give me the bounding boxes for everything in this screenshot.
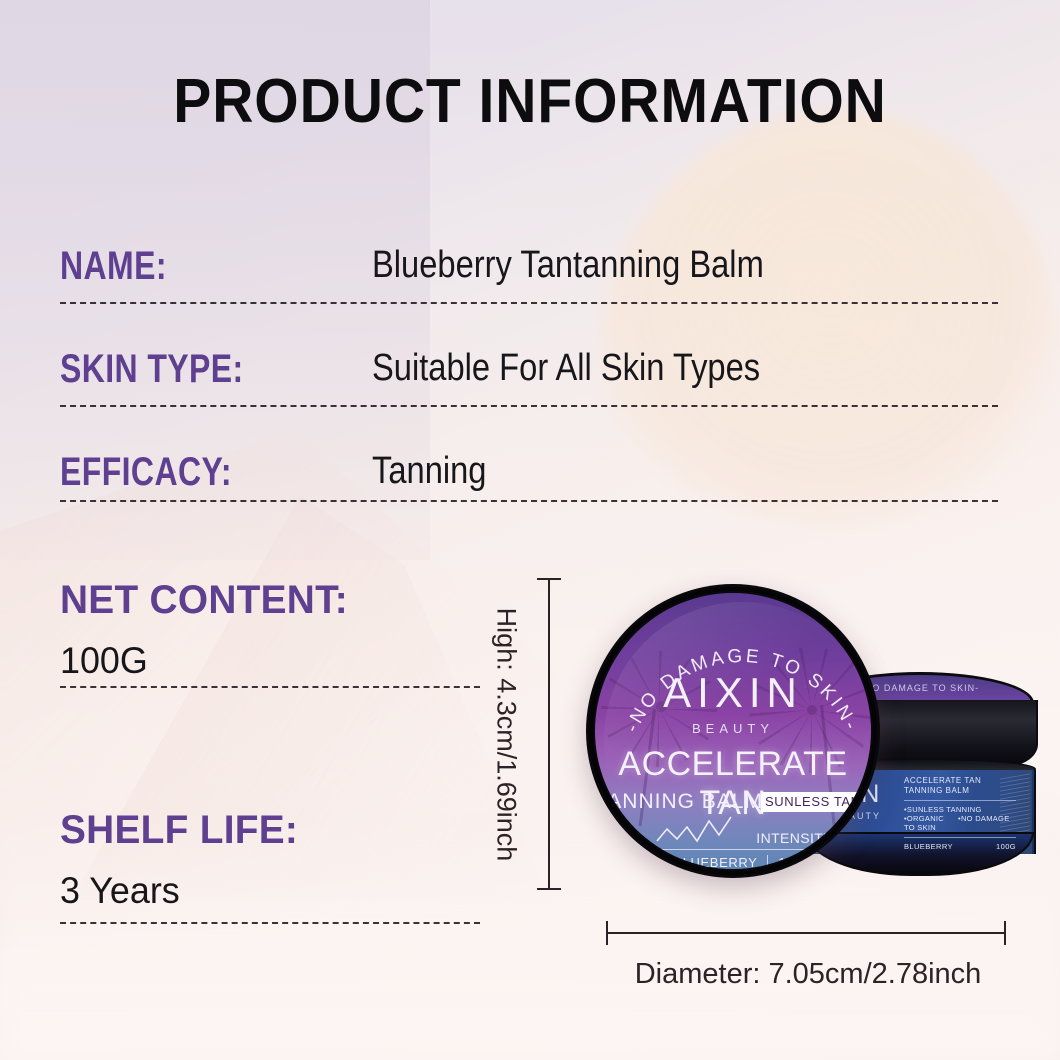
divider-name	[60, 302, 998, 304]
lid-outer-ring	[589, 587, 877, 875]
spec-value-name: Blueberry Tantanning Balm	[372, 244, 764, 287]
rear-jar-bullet-2: •ORGANIC	[904, 814, 944, 823]
rear-jar-bullet-1: •SUNLESS TANNING	[904, 805, 1016, 814]
rear-jar-text-block: ACCELERATE TAN TANNING BALM •SUNLESS TAN…	[904, 776, 1016, 851]
rear-jar-weight: 100G	[996, 842, 1016, 851]
spec-label-efficacy: EFFICACY:	[60, 450, 232, 495]
rear-jar-line1: ACCELERATE TAN	[904, 776, 1016, 785]
page-title: PRODUCT INFORMATION	[42, 66, 1017, 137]
spec-value-shelf-life: 3 Years	[60, 870, 180, 912]
product-lid-front: -NO DAMAGE TO SKIN- AIXIN BEAUTY ACCELER…	[586, 584, 880, 878]
divider-efficacy	[60, 500, 998, 502]
diameter-dimension-cap-left	[606, 921, 608, 945]
spec-label-shelf-life: SHELF LIFE:	[60, 808, 298, 853]
product-information-infographic: PRODUCT INFORMATION NAME: Blueberry Tant…	[0, 0, 1060, 1060]
rear-jar-rule-1	[904, 800, 1016, 801]
diameter-dimension-cap-right	[1004, 921, 1006, 945]
diameter-dimension-label: Diameter: 7.05cm/2.78inch	[606, 958, 1010, 991]
rear-jar-rule-2	[904, 837, 1016, 838]
spec-value-efficacy: Tanning	[372, 450, 486, 493]
spec-label-net-content: NET CONTENT:	[60, 578, 348, 623]
height-dimension-label: High: 4.3cm/1.69inch	[491, 607, 522, 861]
divider-net-content	[60, 686, 480, 688]
height-dimension-line	[548, 578, 550, 890]
divider-skin-type	[60, 405, 998, 407]
rear-jar-line2: TANNING BALM	[904, 786, 1016, 795]
rear-jar-footer: BLUEBERRY 100G	[904, 842, 1016, 851]
height-dimension-cap-top	[537, 578, 561, 580]
spec-value-net-content: 100G	[60, 640, 148, 682]
height-dimension-label-wrap: High: 4.3cm/1.69inch	[486, 580, 526, 888]
rear-jar-bullet-row-2: •ORGANIC•NO DAMAGE TO SKIN	[904, 814, 1016, 832]
divider-shelf-life	[60, 922, 480, 924]
diameter-dimension-line	[606, 932, 1006, 934]
spec-label-name: NAME:	[60, 244, 167, 289]
spec-label-skin-type: SKIN TYPE:	[60, 347, 244, 392]
height-dimension-cap-bottom	[537, 888, 561, 890]
rear-jar-flavor: BLUEBERRY	[904, 842, 953, 851]
spec-value-skin-type: Suitable For All Skin Types	[372, 347, 760, 390]
